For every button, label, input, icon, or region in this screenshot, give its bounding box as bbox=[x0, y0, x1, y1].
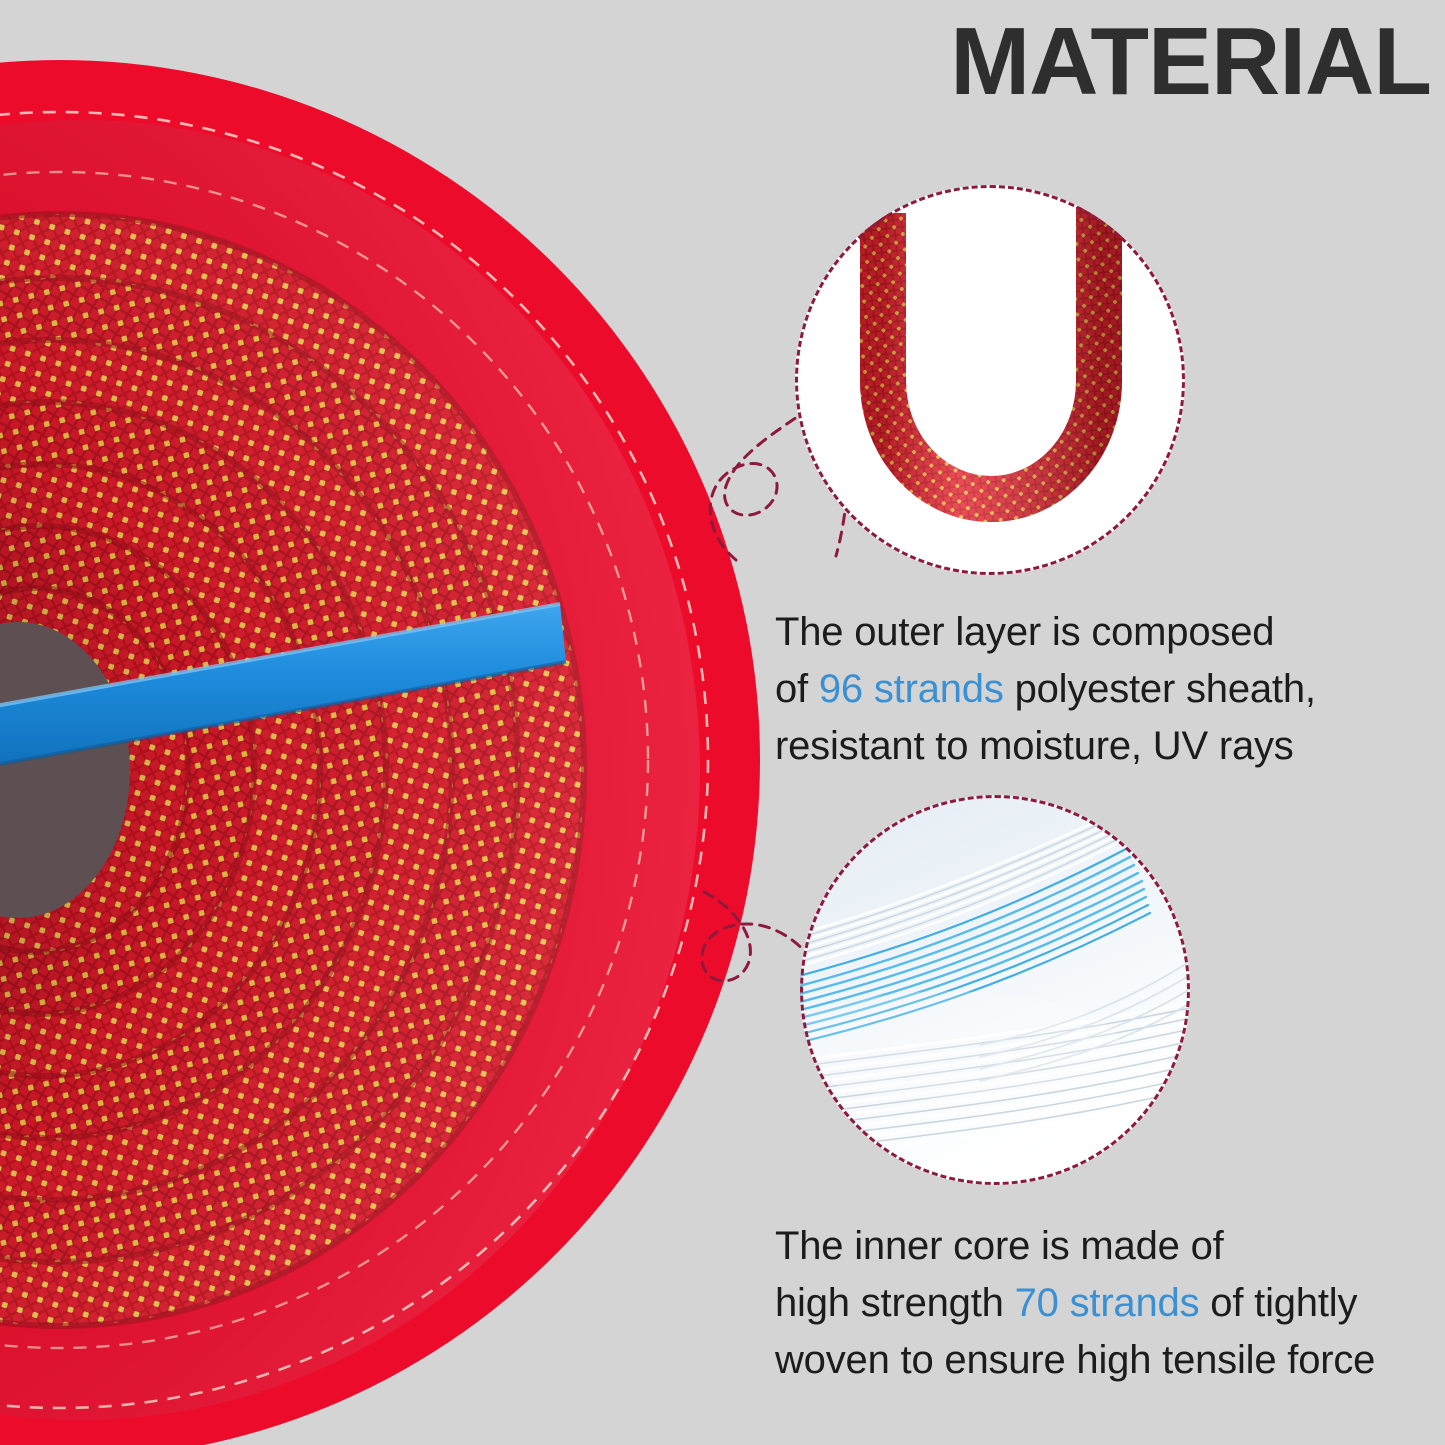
desc-outer-line-2-post: polyester sheath, bbox=[1004, 667, 1316, 711]
desc-outer-line-2-pre: of bbox=[775, 667, 819, 711]
desc-outer-line-3: resistant to moisture, UV rays bbox=[775, 724, 1294, 768]
desc-outer-strand-count: 96 strands bbox=[819, 667, 1004, 711]
callout-image-outer-sheath bbox=[795, 185, 1185, 575]
page-title: MATERIAL bbox=[950, 14, 1431, 110]
desc-outer-line-1: The outer layer is composed bbox=[775, 610, 1274, 654]
desc-inner-strand-count: 70 strands bbox=[1015, 1281, 1200, 1325]
desc-inner-line-2-pre: high strength bbox=[775, 1281, 1015, 1325]
description-outer-sheath: The outer layer is composed of 96 strand… bbox=[775, 604, 1415, 774]
callout-image-inner-core bbox=[800, 795, 1190, 1185]
description-inner-core: The inner core is made of high strength … bbox=[775, 1218, 1425, 1388]
product-photo-rope-coil bbox=[0, 0, 760, 1445]
desc-inner-line-3: woven to ensure high tensile force bbox=[775, 1338, 1375, 1382]
desc-inner-line-1: The inner core is made of bbox=[775, 1224, 1224, 1268]
infographic-canvas: MATERIAL bbox=[0, 0, 1445, 1445]
desc-inner-line-2-post: of tightly bbox=[1199, 1281, 1357, 1325]
